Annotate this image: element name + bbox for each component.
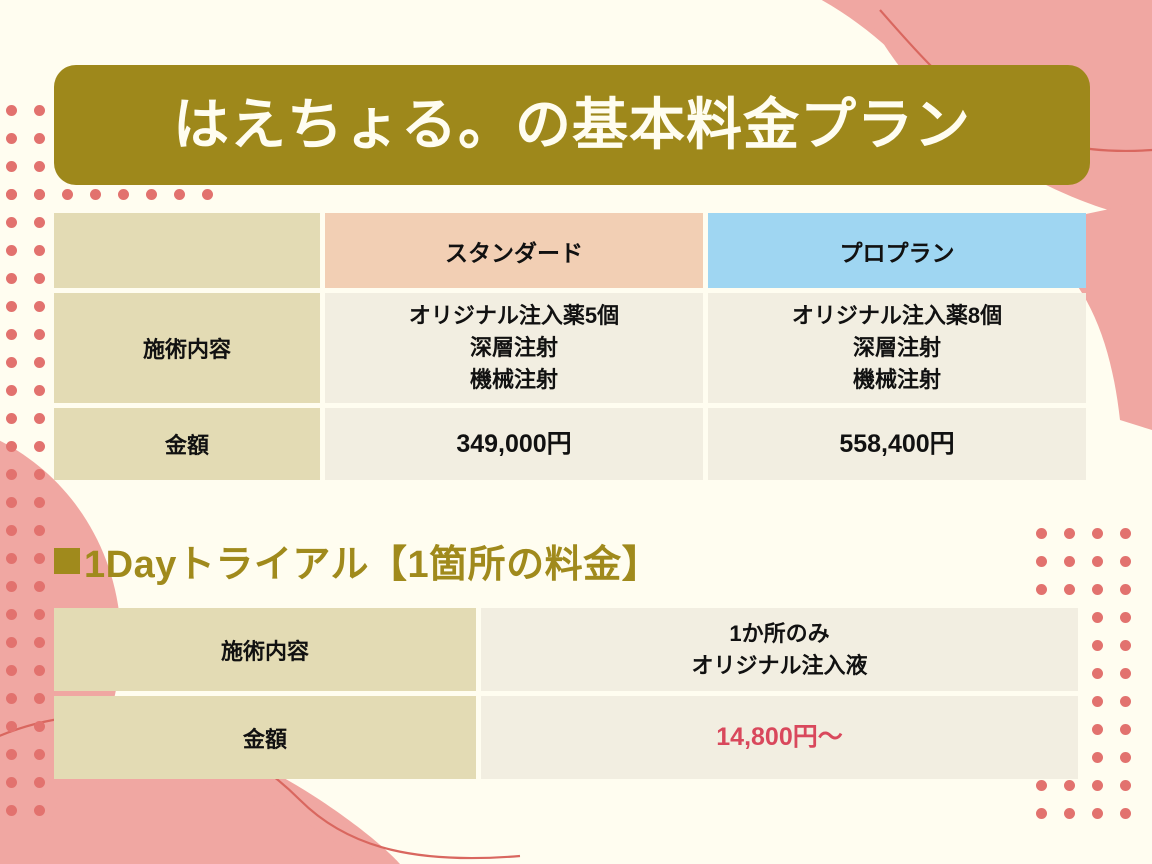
- dot: [1036, 528, 1047, 539]
- dot: [62, 189, 73, 200]
- cell-line: オリジナル注入液: [481, 650, 1078, 682]
- dot: [1120, 752, 1131, 763]
- trial-cell-price: 14,800円〜: [481, 696, 1078, 779]
- dot: [34, 777, 45, 788]
- table-row: 施術内容 1か所のみ オリジナル注入液: [54, 608, 1078, 691]
- dot: [1092, 612, 1103, 623]
- cell-line: 機械注射: [708, 364, 1086, 396]
- page-title: はえちょる。の基本料金プラン: [173, 97, 971, 153]
- dot: [6, 245, 17, 256]
- dot: [6, 637, 17, 648]
- dot: [1092, 528, 1103, 539]
- dot: [6, 665, 17, 676]
- dot: [6, 301, 17, 312]
- dot: [1092, 696, 1103, 707]
- dot: [34, 665, 45, 676]
- square-marker-icon: [54, 548, 80, 574]
- dot: [34, 133, 45, 144]
- dot: [34, 385, 45, 396]
- header-cell-pro: プロプラン: [708, 213, 1086, 288]
- dot: [1120, 556, 1131, 567]
- dot: [1092, 808, 1103, 819]
- dot: [1092, 668, 1103, 679]
- dot: [1036, 556, 1047, 567]
- dot: [34, 245, 45, 256]
- dot: [6, 189, 17, 200]
- dot: [34, 469, 45, 480]
- dot: [90, 189, 101, 200]
- dot: [34, 189, 45, 200]
- dot: [202, 189, 213, 200]
- cell-line: 深層注射: [325, 332, 703, 364]
- cell-standard-treatment: オリジナル注入薬5個 深層注射 機械注射: [325, 293, 703, 403]
- table-row: 金額 349,000円 558,400円: [54, 408, 1086, 480]
- dot: [1036, 808, 1047, 819]
- dot: [1120, 808, 1131, 819]
- cell-line: オリジナル注入薬5個: [325, 300, 703, 332]
- cell-line: 1か所のみ: [481, 618, 1078, 650]
- dot: [34, 105, 45, 116]
- dot: [1120, 584, 1131, 595]
- dot: [34, 805, 45, 816]
- dot: [1092, 584, 1103, 595]
- dot: [6, 217, 17, 228]
- dot: [1092, 556, 1103, 567]
- cell-standard-price: 349,000円: [325, 408, 703, 480]
- dot: [6, 469, 17, 480]
- dot: [34, 441, 45, 452]
- header-cell-standard: スタンダード: [325, 213, 703, 288]
- dot: [6, 497, 17, 508]
- header-cell-blank: [54, 213, 320, 288]
- dot: [6, 553, 17, 564]
- dot: [1064, 584, 1075, 595]
- cell-pro-price: 558,400円: [708, 408, 1086, 480]
- dot: [34, 189, 45, 200]
- dot: [6, 105, 17, 116]
- dot: [6, 749, 17, 760]
- dot: [34, 329, 45, 340]
- blob-bottom: [40, 778, 360, 864]
- trial-cell-treatment: 1か所のみ オリジナル注入液: [481, 608, 1078, 691]
- dot: [1092, 780, 1103, 791]
- section-heading-text: 1Dayトライアル【1箇所の料金】: [84, 533, 660, 588]
- dot: [1120, 528, 1131, 539]
- dot: [6, 385, 17, 396]
- dot: [34, 413, 45, 424]
- dot: [34, 161, 45, 172]
- cell-line: 深層注射: [708, 332, 1086, 364]
- dot: [6, 357, 17, 368]
- dot: [1036, 584, 1047, 595]
- dot: [1120, 612, 1131, 623]
- dot: [1064, 808, 1075, 819]
- dot: [34, 721, 45, 732]
- dot: [34, 553, 45, 564]
- dot: [6, 525, 17, 536]
- dot: [6, 777, 17, 788]
- dot: [1092, 752, 1103, 763]
- dot: [34, 301, 45, 312]
- title-banner: はえちょる。の基本料金プラン: [54, 65, 1090, 185]
- dot: [34, 357, 45, 368]
- dot: [1064, 556, 1075, 567]
- cell-pro-treatment: オリジナル注入薬8個 深層注射 機械注射: [708, 293, 1086, 403]
- dot: [34, 749, 45, 760]
- dot: [34, 525, 45, 536]
- dot: [34, 217, 45, 228]
- dot: [34, 497, 45, 508]
- price-value-accent: 14,800円〜: [481, 719, 1078, 755]
- dot: [174, 189, 185, 200]
- row-label-price: 金額: [54, 408, 320, 480]
- dot: [34, 693, 45, 704]
- dot: [34, 581, 45, 592]
- dot: [34, 273, 45, 284]
- dot: [1120, 780, 1131, 791]
- dot: [1120, 696, 1131, 707]
- dot: [1120, 640, 1131, 651]
- trial-row-label-treatment: 施術内容: [54, 608, 476, 691]
- price-value: 349,000円: [325, 426, 703, 462]
- dot: [6, 273, 17, 284]
- dot: [1092, 724, 1103, 735]
- dot: [6, 609, 17, 620]
- dot: [1120, 724, 1131, 735]
- dot: [6, 693, 17, 704]
- trial-row-label-price: 金額: [54, 696, 476, 779]
- dot: [6, 581, 17, 592]
- dot: [146, 189, 157, 200]
- dot: [1064, 528, 1075, 539]
- dot: [6, 189, 17, 200]
- dot: [6, 133, 17, 144]
- price-value: 558,400円: [708, 426, 1086, 462]
- dot: [6, 721, 17, 732]
- dot: [118, 189, 129, 200]
- cell-line: 機械注射: [325, 364, 703, 396]
- cell-line: オリジナル注入薬8個: [708, 300, 1086, 332]
- section-heading: 1Dayトライアル【1箇所の料金】: [54, 533, 660, 588]
- dot: [1120, 668, 1131, 679]
- dot: [6, 805, 17, 816]
- table-header-row: スタンダード プロプラン: [54, 213, 1086, 288]
- main-price-table: スタンダード プロプラン 施術内容 オリジナル注入薬5個 深層注射 機械注射 オ…: [49, 208, 1091, 485]
- table-row: 金額 14,800円〜: [54, 696, 1078, 779]
- dot: [6, 329, 17, 340]
- dot: [1092, 640, 1103, 651]
- dot: [6, 441, 17, 452]
- trial-price-table: 施術内容 1か所のみ オリジナル注入液 金額 14,800円〜: [49, 603, 1083, 784]
- dot: [6, 413, 17, 424]
- table-row: 施術内容 オリジナル注入薬5個 深層注射 機械注射 オリジナル注入薬8個 深層注…: [54, 293, 1086, 403]
- dot: [34, 609, 45, 620]
- dot: [6, 161, 17, 172]
- row-label-treatment: 施術内容: [54, 293, 320, 403]
- dot: [34, 637, 45, 648]
